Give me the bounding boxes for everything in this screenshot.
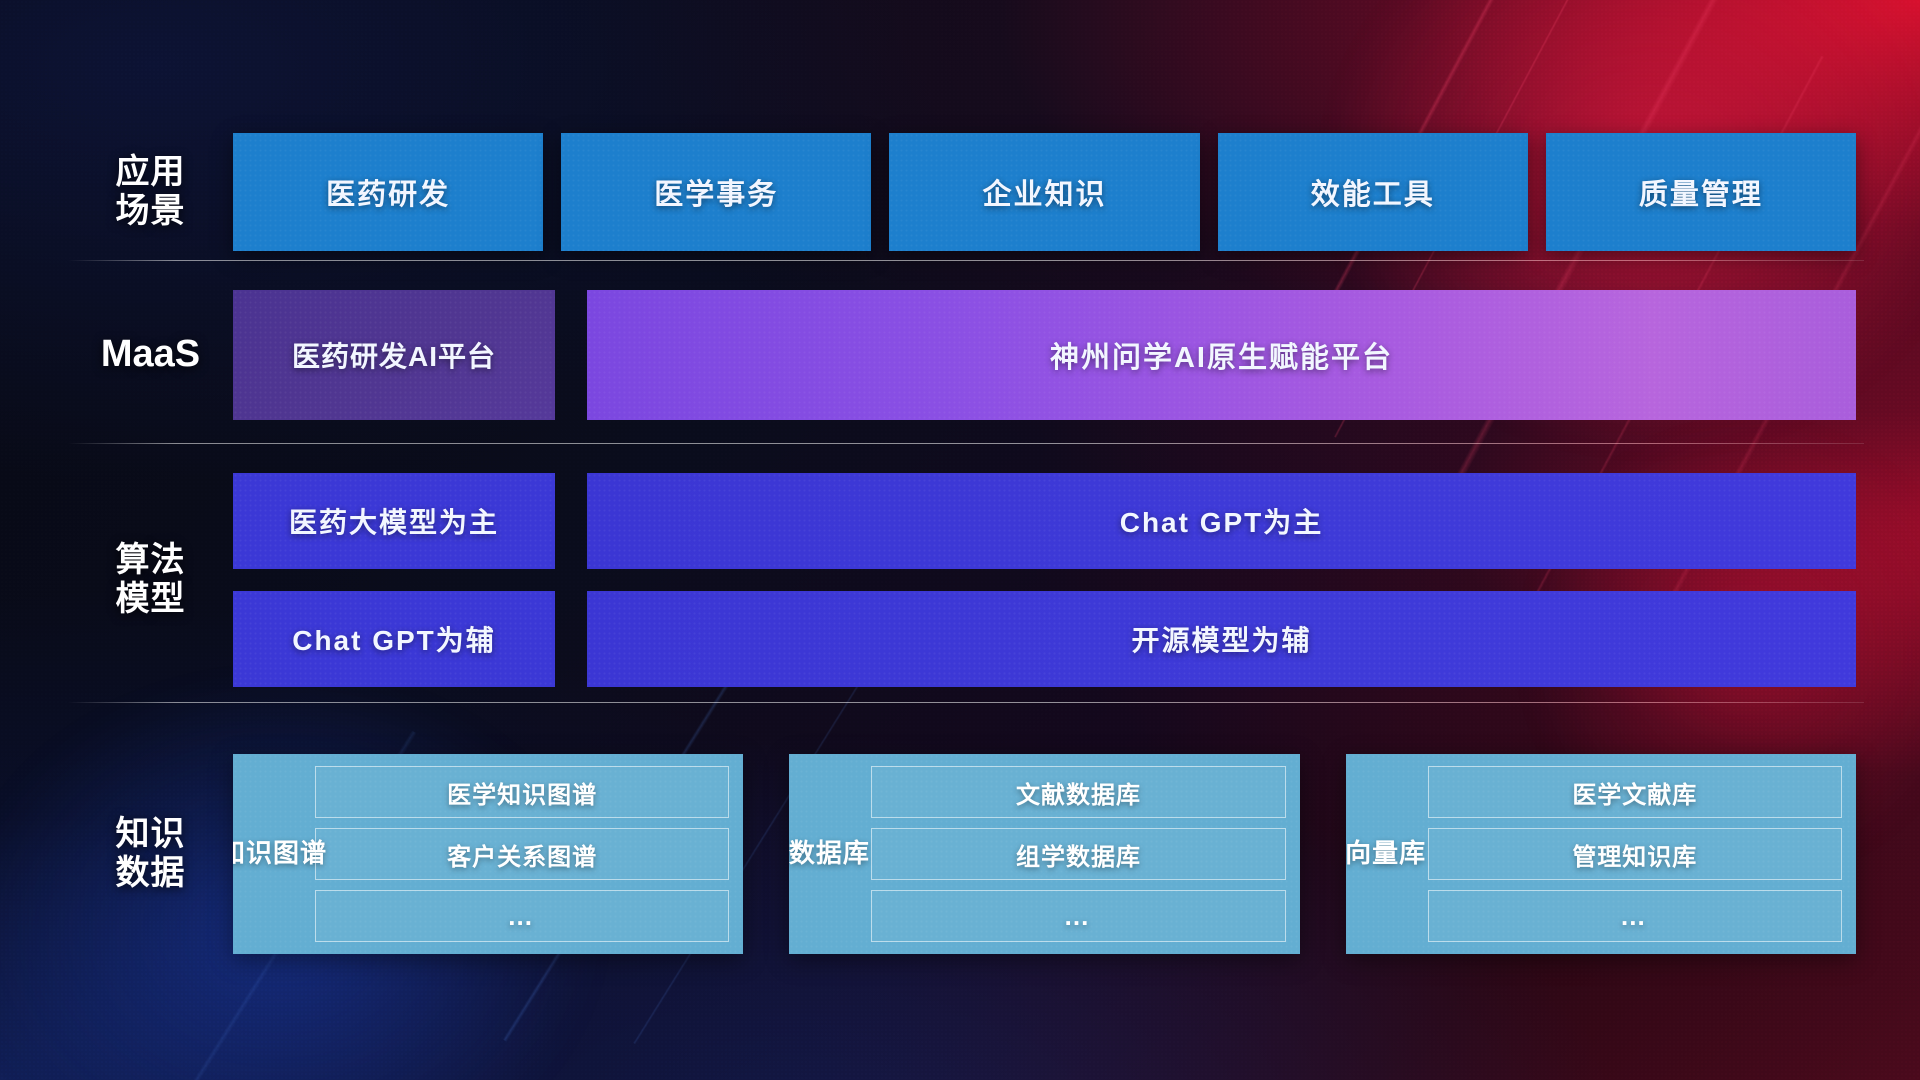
row-label-line-2: 模型	[68, 580, 233, 619]
app-card-label: 医药研发	[326, 171, 450, 213]
algo-card-chatgpt-secondary[interactable]: Chat GPT为辅	[233, 591, 555, 687]
knowledge-item-medical-knowledge-graph[interactable]: 医学知识图谱	[315, 766, 729, 818]
algorithm-row-primary: 医药大模型为主 Chat GPT为主	[233, 473, 1856, 569]
app-card-medical-affairs[interactable]: 医学事务	[561, 133, 871, 251]
knowledge-group-items: 文献数据库 组学数据库 …	[871, 766, 1285, 942]
row-body-algorithm-models: 医药大模型为主 Chat GPT为主 Chat GPT为辅 开源模型为辅	[233, 465, 1856, 695]
algo-card-label: 开源模型为辅	[1131, 619, 1311, 659]
row-body-application-scenarios: 医药研发 医学事务 企业知识 效能工具 质量管理	[233, 133, 1856, 251]
app-card-medicine-rnd[interactable]: 医药研发	[233, 133, 543, 251]
app-card-enterprise-knowledge[interactable]: 企业知识	[889, 133, 1199, 251]
maas-card-shenzhou-wenxue-platform[interactable]: 神州问学AI原生赋能平台	[587, 290, 1856, 420]
knowledge-group-items: 医学知识图谱 客户关系图谱 …	[315, 766, 729, 942]
row-label-line-1: 知识	[68, 815, 233, 854]
algo-card-label: 医药大模型为主	[289, 501, 499, 541]
row-algorithm-models: 算法 模型 医药大模型为主 Chat GPT为主 Chat GPT为辅 开源模型…	[68, 465, 1856, 695]
row-application-scenarios: 应用 场景 医药研发 医学事务 企业知识 效能工具 质量管理	[68, 118, 1856, 266]
algo-card-label: Chat GPT为主	[1120, 501, 1324, 541]
row-label-text: MaaS	[101, 333, 200, 375]
app-card-quality-management[interactable]: 质量管理	[1546, 133, 1856, 251]
row-label-maas: MaaS	[68, 333, 233, 376]
maas-card-medicine-ai-platform[interactable]: 医药研发AI平台	[233, 290, 555, 420]
row-body-knowledge-data: 知识图谱 医学知识图谱 客户关系图谱 … 数据库 文献数据库 组学数据库 … 向…	[233, 754, 1856, 954]
app-card-label: 效能工具	[1311, 171, 1435, 213]
row-label-line-2: 数据	[68, 854, 233, 893]
app-card-label: 质量管理	[1639, 171, 1763, 213]
maas-card-label: 医药研发AI平台	[292, 335, 496, 375]
knowledge-group-items: 医学文献库 管理知识库 …	[1428, 766, 1842, 942]
knowledge-group-database[interactable]: 数据库 文献数据库 组学数据库 …	[789, 754, 1299, 954]
knowledge-group-title: 向量库	[1358, 766, 1414, 942]
divider-2	[68, 443, 1864, 444]
knowledge-item-more[interactable]: …	[315, 890, 729, 942]
algo-card-medicine-llm-primary[interactable]: 医药大模型为主	[233, 473, 555, 569]
knowledge-group-vector-store[interactable]: 向量库 医学文献库 管理知识库 …	[1346, 754, 1856, 954]
algo-card-chatgpt-primary[interactable]: Chat GPT为主	[587, 473, 1856, 569]
row-body-maas: 医药研发AI平台 神州问学AI原生赋能平台	[233, 290, 1856, 420]
architecture-diagram: 应用 场景 医药研发 医学事务 企业知识 效能工具 质量管理 MaaS 医药研发…	[0, 0, 1920, 1080]
row-label-application-scenarios: 应用 场景	[68, 153, 233, 231]
knowledge-group-knowledge-graph[interactable]: 知识图谱 医学知识图谱 客户关系图谱 …	[233, 754, 743, 954]
row-label-line-1: 应用	[68, 153, 233, 192]
row-maas: MaaS 医药研发AI平台 神州问学AI原生赋能平台	[68, 290, 1856, 420]
knowledge-item-management-knowledge-store[interactable]: 管理知识库	[1428, 828, 1842, 880]
maas-card-label: 神州问学AI原生赋能平台	[1050, 334, 1393, 376]
knowledge-item-omics-database[interactable]: 组学数据库	[871, 828, 1285, 880]
knowledge-group-title: 知识图谱	[245, 766, 301, 942]
row-label-algorithm-models: 算法 模型	[68, 465, 233, 695]
app-card-efficiency-tools[interactable]: 效能工具	[1218, 133, 1528, 251]
knowledge-item-more[interactable]: …	[871, 890, 1285, 942]
knowledge-item-medical-literature-store[interactable]: 医学文献库	[1428, 766, 1842, 818]
app-card-label: 企业知识	[983, 171, 1107, 213]
divider-3	[68, 702, 1864, 703]
algorithm-row-secondary: Chat GPT为辅 开源模型为辅	[233, 591, 1856, 687]
knowledge-item-customer-relation-graph[interactable]: 客户关系图谱	[315, 828, 729, 880]
app-card-label: 医学事务	[654, 171, 778, 213]
knowledge-item-more[interactable]: …	[1428, 890, 1842, 942]
row-label-line-2: 场景	[68, 192, 233, 231]
row-label-knowledge-data: 知识 数据	[68, 815, 233, 893]
divider-1	[68, 260, 1864, 261]
row-label-line-1: 算法	[68, 541, 233, 580]
row-knowledge-data: 知识 数据 知识图谱 医学知识图谱 客户关系图谱 … 数据库 文献数据库 组学数…	[68, 730, 1856, 978]
knowledge-item-literature-database[interactable]: 文献数据库	[871, 766, 1285, 818]
algo-card-label: Chat GPT为辅	[292, 619, 496, 659]
knowledge-group-title: 数据库	[801, 766, 857, 942]
algo-card-opensource-secondary[interactable]: 开源模型为辅	[587, 591, 1856, 687]
